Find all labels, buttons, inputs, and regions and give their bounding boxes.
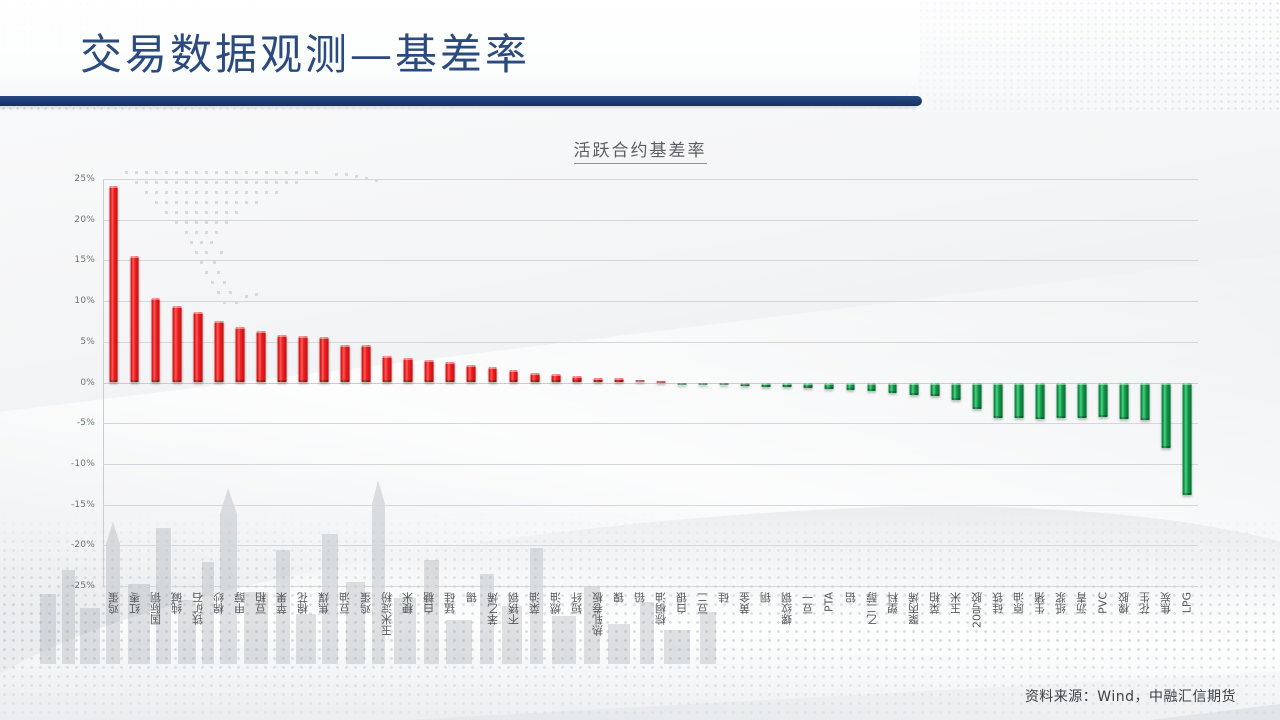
x-axis-tick-label: 生猪 [1035, 592, 1046, 614]
chart-bar[interactable] [825, 383, 834, 390]
x-axis-tick-label: 乙二醇 [866, 592, 877, 625]
bar-shadow [699, 383, 708, 385]
bar-slot[interactable] [651, 179, 672, 586]
bar-highlight [846, 383, 855, 385]
bar-shadow [1183, 493, 1192, 495]
x-axis-tick-label: 棉花 [298, 592, 309, 614]
x-axis-tick-label: 橡胶 [1119, 592, 1130, 614]
chart-bar[interactable] [425, 360, 434, 383]
bar-highlight [909, 383, 918, 385]
bar-slot[interactable] [861, 179, 882, 586]
chart-bar[interactable] [636, 380, 645, 382]
chart-bar[interactable] [235, 327, 244, 382]
bar-shadow [951, 398, 960, 400]
bar-shadow [551, 380, 560, 382]
bar-slot[interactable] [1030, 179, 1051, 586]
bar-shadow [783, 385, 792, 387]
bar-highlight [1036, 383, 1045, 385]
bar-highlight [551, 374, 560, 376]
chart-bar[interactable] [951, 383, 960, 400]
bar-slot[interactable] [1008, 179, 1029, 586]
chart-bar[interactable] [1057, 383, 1066, 419]
x-axis-tick-label: 焦炭 [1161, 592, 1172, 614]
bar-highlight [888, 383, 897, 385]
bar-shadow [1036, 417, 1045, 419]
bar-shadow [1057, 416, 1066, 418]
x-axis-tick-label: 不锈钢 [508, 592, 519, 625]
bar-highlight [383, 356, 392, 358]
chart-bar[interactable] [720, 383, 729, 385]
x-axis-tick-label: 锰硅 [445, 592, 456, 614]
x-axis-tick-label: PVC [1098, 592, 1109, 614]
x-axis-tick-label: 原油 [1014, 592, 1025, 614]
bar-slot[interactable] [103, 179, 124, 586]
bar-slot[interactable] [145, 179, 166, 586]
bar-slot[interactable] [377, 179, 398, 586]
y-axis-tick-label: 10% [49, 296, 95, 306]
bar-slot[interactable] [1177, 179, 1198, 586]
bar-shadow [488, 380, 497, 382]
chart-bar[interactable] [446, 362, 455, 382]
bar-slot[interactable] [735, 179, 756, 586]
bar-highlight [109, 186, 118, 188]
bar-highlight [404, 358, 413, 360]
bar-shadow [636, 380, 645, 382]
bar-shadow [720, 383, 729, 385]
bar-shadow [109, 380, 118, 382]
bar-shadow [572, 380, 581, 382]
x-axis-tick-label: 燃油 [550, 592, 561, 614]
y-axis-tick-label: 25% [49, 174, 95, 184]
chart-bar[interactable] [593, 378, 602, 383]
x-axis-tick-label: 铝 [845, 592, 856, 603]
x-axis-tick-label: 苹果 [276, 592, 287, 614]
bar-highlight [825, 383, 834, 385]
bar-shadow [214, 380, 223, 382]
chart-bar[interactable] [404, 358, 413, 382]
chart-bar[interactable] [846, 383, 855, 390]
bar-slot[interactable] [187, 179, 208, 586]
x-axis-tick-label: 豆一 [803, 592, 814, 614]
bar-shadow [930, 394, 939, 396]
bar-shadow [446, 380, 455, 382]
bar-shadow [1162, 446, 1171, 448]
bar-shadow [278, 380, 287, 382]
chart-bar[interactable] [172, 306, 181, 383]
y-axis-tick-label: -15% [49, 500, 95, 510]
bar-highlight [467, 365, 476, 367]
chart-bar[interactable] [488, 367, 497, 382]
bar-highlight [1162, 383, 1171, 385]
x-axis-tick-label: 硅 [719, 592, 730, 603]
chart-bar[interactable] [867, 383, 876, 392]
bar-shadow [972, 407, 981, 409]
bar-highlight [1078, 383, 1087, 385]
bar-slot[interactable] [524, 179, 545, 586]
bar-shadow [404, 380, 413, 382]
gridline [103, 586, 1198, 587]
bar-slot[interactable] [966, 179, 987, 586]
bar-highlight [1183, 383, 1192, 385]
chart-bar[interactable] [657, 381, 666, 383]
x-axis-tick-label: 国际铜 [150, 592, 161, 625]
bar-slot[interactable] [777, 179, 798, 586]
bar-highlight [362, 345, 371, 347]
chart-bar[interactable] [804, 383, 813, 389]
bar-shadow [614, 380, 623, 382]
title-rule-shadow [0, 106, 917, 110]
x-axis-tick-label: 粳米 [403, 592, 414, 614]
x-axis-tick-label: 纸浆 [1056, 592, 1067, 614]
bar-slot[interactable] [1114, 179, 1135, 586]
bar-slot[interactable] [903, 179, 924, 586]
slide-canvas: 交易数据观测—基差率 活跃合约基差率 25%20%15%10%5%0%-5%-1… [0, 0, 1280, 720]
chart-bar[interactable] [278, 335, 287, 382]
chart-bar[interactable] [1120, 383, 1129, 420]
bar-slot[interactable] [419, 179, 440, 586]
y-axis-tick-label: -25% [49, 581, 95, 591]
bar-shadow [1099, 415, 1108, 417]
bar-highlight [151, 298, 160, 300]
bar-shadow [593, 380, 602, 382]
chart-bar[interactable] [783, 383, 792, 388]
chart-bar[interactable] [130, 256, 139, 382]
bar-highlight [214, 321, 223, 323]
bar-highlight [951, 383, 960, 385]
bar-highlight [867, 383, 876, 385]
bar-shadow [678, 383, 687, 385]
chart-bar[interactable] [467, 365, 476, 383]
chart-bar[interactable] [909, 383, 918, 395]
bar-shadow [825, 387, 834, 389]
bar-slot[interactable] [503, 179, 524, 586]
chart-bar[interactable] [299, 336, 308, 382]
bar-highlight [235, 327, 244, 329]
bar-highlight [278, 335, 287, 337]
bar-highlight [130, 256, 139, 258]
bar-shadow [804, 386, 813, 388]
chart-bar[interactable] [1036, 383, 1045, 420]
bar-slot[interactable] [1051, 179, 1072, 586]
bar-slot[interactable] [1156, 179, 1177, 586]
bar-highlight [320, 337, 329, 339]
bar-slot[interactable] [1072, 179, 1093, 586]
chart-bar[interactable] [614, 378, 623, 382]
chart-bar[interactable] [762, 383, 771, 387]
chart-bar[interactable] [256, 331, 265, 382]
bar-shadow [867, 389, 876, 391]
bar-shadow [130, 380, 139, 382]
chart-bar[interactable] [888, 383, 897, 394]
bar-highlight [783, 383, 792, 385]
bar-shadow [762, 385, 771, 387]
bar-slot[interactable] [587, 179, 608, 586]
chart-bar[interactable] [383, 356, 392, 382]
chart-bar[interactable] [699, 383, 708, 385]
title-accent-rule-cap [896, 96, 922, 106]
bar-slot[interactable] [314, 179, 335, 586]
bar-highlight [593, 378, 602, 380]
title-accent-rule [0, 96, 917, 106]
x-axis-tick-label: 塑料 [887, 592, 898, 614]
bar-slot[interactable] [756, 179, 777, 586]
chart-bar[interactable] [530, 373, 539, 383]
x-axis-tick-label: 沥青 [1077, 592, 1088, 614]
bar-shadow [741, 384, 750, 386]
bar-shadow [1078, 416, 1087, 418]
x-axis-tick-label: 玉米 [950, 592, 961, 614]
bar-shadow [235, 380, 244, 382]
x-axis-tick-label: 20号胶 [971, 592, 982, 628]
chart-bar[interactable] [193, 312, 202, 383]
chart-bar[interactable] [362, 345, 371, 382]
x-axis-tick-label: LPG [1182, 592, 1193, 613]
bar-slot[interactable] [250, 179, 271, 586]
bar-highlight [193, 312, 202, 314]
chart-bar[interactable] [994, 383, 1003, 419]
bar-shadow [193, 380, 202, 382]
x-axis-tick-label: 鸡蛋 [361, 592, 372, 614]
chart-bar[interactable] [1099, 383, 1108, 417]
chart-bar[interactable] [972, 383, 981, 409]
chart-bar[interactable] [1078, 383, 1087, 418]
bar-highlight [172, 306, 181, 308]
bar-highlight [509, 370, 518, 372]
bar-shadow [909, 393, 918, 395]
x-axis-tick-label: 玉米淀粉 [382, 592, 393, 636]
bar-highlight [530, 373, 539, 375]
bar-highlight [341, 345, 350, 347]
chart-bar[interactable] [320, 337, 329, 383]
bar-slot[interactable] [1135, 179, 1156, 586]
chart-bar[interactable] [151, 298, 160, 383]
bar-slot[interactable] [482, 179, 503, 586]
slide-header: 交易数据观测—基差率 [0, 0, 1280, 112]
bar-shadow [846, 388, 855, 390]
bar-shadow [994, 416, 1003, 418]
bar-shadow [299, 380, 308, 382]
bar-highlight [1141, 383, 1150, 385]
x-axis-tick-label: 鸡蛋 [108, 592, 119, 614]
bar-shadow [530, 380, 539, 382]
bar-slot[interactable] [335, 179, 356, 586]
chart-bar[interactable] [109, 186, 118, 382]
x-axis-tick-label: 花生 [1140, 592, 1151, 614]
bar-shadow [467, 380, 476, 382]
bar-highlight [425, 360, 434, 362]
bar-highlight [1120, 383, 1129, 385]
bar-slot[interactable] [608, 179, 629, 586]
bar-slot[interactable] [714, 179, 735, 586]
source-note: 资料来源：Wind，中融汇信期货 [1025, 686, 1236, 706]
bar-slot[interactable] [356, 179, 377, 586]
y-axis-tick-label: 15% [49, 255, 95, 265]
x-axis-tick-label: 白银 [677, 592, 688, 614]
y-axis-tick-label: -5% [49, 418, 95, 428]
bar-slot[interactable] [882, 179, 903, 586]
bar-highlight [299, 336, 308, 338]
bar-slot[interactable] [924, 179, 945, 586]
bar-shadow [509, 380, 518, 382]
bar-shadow [1015, 416, 1024, 418]
x-axis-tick-label: 菜油 [529, 592, 540, 614]
x-axis-tick-label: 铜 [761, 592, 772, 603]
bar-slot[interactable] [293, 179, 314, 586]
chart-bar[interactable] [1141, 383, 1150, 420]
bar-slot[interactable] [819, 179, 840, 586]
x-axis-tick-label: 菜粕 [929, 592, 940, 614]
chart-plot-area: 25%20%15%10%5%0%-5%-10%-15%-20%-25% 鸡蛋红枣… [103, 179, 1198, 586]
bar-highlight [930, 383, 939, 385]
bar-highlight [446, 362, 455, 364]
x-axis-tick-label: 镍 [613, 592, 624, 603]
x-axis-tick-label: 聚丙烯 [908, 592, 919, 625]
bar-shadow [1120, 417, 1129, 419]
basis-rate-chart: 活跃合约基差率 25%20%15%10%5%0%-5%-10%-15%-20%-… [0, 112, 1280, 672]
x-axis-tick-label: 硅铁 [992, 592, 1003, 614]
bar-shadow [172, 380, 181, 382]
bar-slot[interactable] [545, 179, 566, 586]
x-axis-tick-label: 焦煤 [319, 592, 330, 614]
bar-slot[interactable] [440, 179, 461, 586]
bar-highlight [1057, 383, 1066, 385]
chart-bar[interactable] [930, 383, 939, 397]
chart-bar[interactable] [1015, 383, 1024, 418]
chart-title: 活跃合约基差率 [0, 136, 1280, 161]
y-axis-tick-label: 5% [49, 337, 95, 347]
bar-highlight [572, 376, 581, 378]
x-axis-tick-label: 铁矿石 [192, 592, 203, 625]
bar-slot[interactable] [693, 179, 714, 586]
x-axis-tick-label: PTA [824, 592, 835, 612]
x-axis-tick-label: 棕榈油 [656, 592, 667, 625]
chart-bar[interactable] [572, 376, 581, 383]
y-axis-tick-label: 20% [49, 215, 95, 225]
bar-slot[interactable] [945, 179, 966, 586]
bar-highlight [1015, 383, 1024, 385]
chart-bar[interactable] [214, 321, 223, 382]
x-axis-tick-label: 棉纱 [213, 592, 224, 614]
bar-slot[interactable] [672, 179, 693, 586]
bar-slot[interactable] [271, 179, 292, 586]
x-axis-tick-label: 锡 [466, 592, 477, 603]
bar-shadow [362, 380, 371, 382]
bar-shadow [383, 380, 392, 382]
bar-highlight [1099, 383, 1108, 385]
x-axis-tick-label: 甲醇 [234, 592, 245, 614]
bar-highlight [994, 383, 1003, 385]
bar-slot[interactable] [840, 179, 861, 586]
bar-slot[interactable] [566, 179, 587, 586]
bar-highlight [256, 331, 265, 333]
page-title: 交易数据观测—基差率 [80, 26, 530, 84]
x-axis-tick-label: 豆粕 [255, 592, 266, 614]
bar-shadow [256, 380, 265, 382]
bars-group [103, 179, 1198, 586]
bar-shadow [425, 380, 434, 382]
x-axis-tick-label: 短纤 [571, 592, 582, 614]
x-axis-tick-label: 纯碱 [171, 592, 182, 614]
chart-bar[interactable] [741, 383, 750, 386]
bar-slot[interactable] [124, 179, 145, 586]
chart-bar[interactable] [1162, 383, 1171, 448]
chart-bar[interactable] [509, 370, 518, 382]
x-axis-tick-label: 苯乙烯 [487, 592, 498, 625]
bar-slot[interactable] [208, 179, 229, 586]
bar-slot[interactable] [629, 179, 650, 586]
bar-highlight [488, 367, 497, 369]
chart-bar[interactable] [678, 383, 687, 385]
bar-highlight [804, 383, 813, 385]
x-axis-tick-label: 白糖 [424, 592, 435, 614]
x-axis-tick-label: 黄金 [740, 592, 751, 614]
x-axis-tick-label: 螺纹钢 [782, 592, 793, 625]
x-axis-tick-label: 豆二 [698, 592, 709, 614]
chart-bar[interactable] [341, 345, 350, 382]
x-axis-tick-label: 热轧卷板 [592, 592, 603, 636]
chart-bar[interactable] [1183, 383, 1192, 495]
bar-shadow [320, 380, 329, 382]
bar-slot[interactable] [987, 179, 1008, 586]
bar-slot[interactable] [1093, 179, 1114, 586]
bar-shadow [1141, 418, 1150, 420]
bar-highlight [972, 383, 981, 385]
x-axis-tick-label: 红枣 [129, 592, 140, 614]
bar-shadow [657, 381, 666, 383]
x-axis-tick-label: 铅 [634, 592, 645, 603]
y-axis-tick-label: 0% [49, 378, 95, 388]
bar-shadow [151, 380, 160, 382]
bar-shadow [888, 391, 897, 393]
x-axis-tick-label: 豆油 [340, 592, 351, 614]
bar-slot[interactable] [398, 179, 419, 586]
chart-title-text: 活跃合约基差率 [574, 141, 707, 164]
y-axis-tick-label: -20% [49, 540, 95, 550]
y-axis-tick-label: -10% [49, 459, 95, 469]
bar-slot[interactable] [166, 179, 187, 586]
bar-slot[interactable] [461, 179, 482, 586]
bar-shadow [341, 380, 350, 382]
chart-bar[interactable] [551, 374, 560, 382]
bar-slot[interactable] [229, 179, 250, 586]
bar-slot[interactable] [798, 179, 819, 586]
